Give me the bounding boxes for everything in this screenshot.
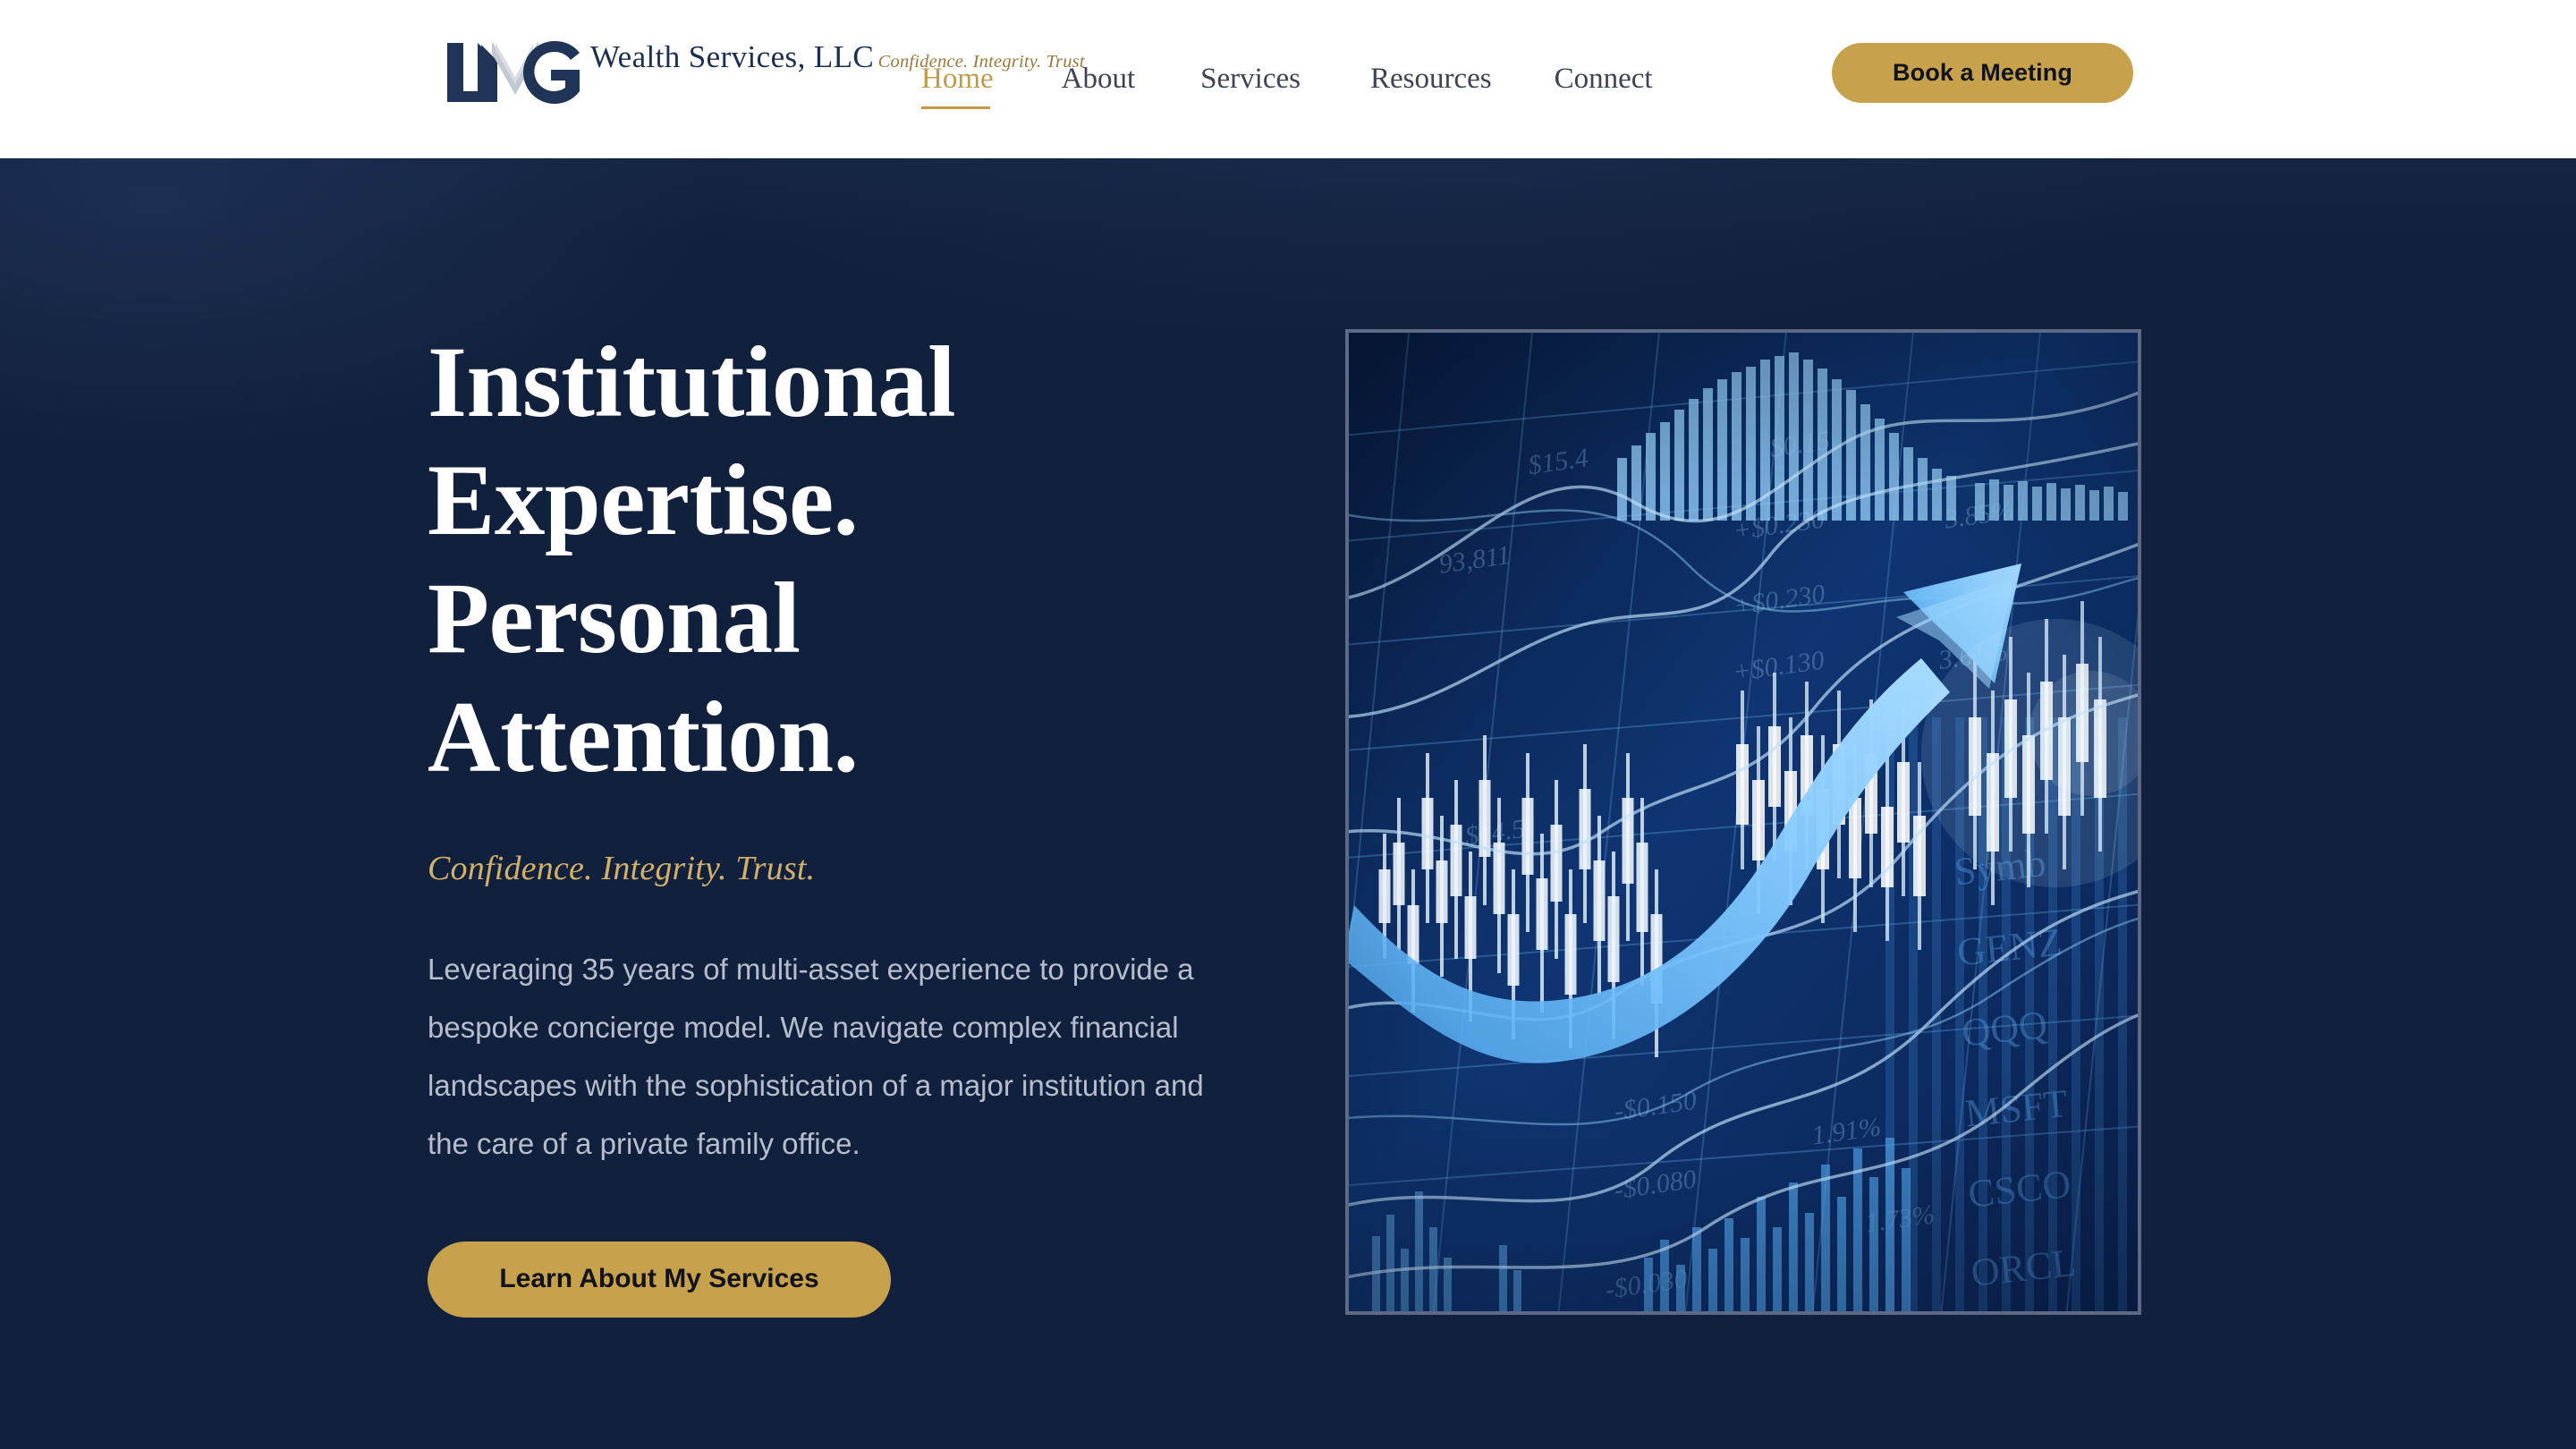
- hero-copy-block: InstitutionalExpertise.PersonalAttention…: [428, 324, 1286, 1318]
- nav-item-home[interactable]: Home: [921, 64, 994, 94]
- nav-item-connect[interactable]: Connect: [1555, 64, 1653, 94]
- book-a-meeting-button[interactable]: Book a Meeting: [1832, 43, 2133, 103]
- hero-section: InstitutionalExpertise.PersonalAttention…: [0, 158, 2576, 1449]
- hero-title-line-1: Institutional: [428, 326, 955, 438]
- hero-title-line-2: Expertise.: [428, 445, 858, 556]
- hero-title-line-3: Personal: [428, 563, 801, 674]
- hero-title: InstitutionalExpertise.PersonalAttention…: [428, 324, 1286, 797]
- site-header: Wealth Services, LLC Confidence. Integri…: [0, 0, 2576, 158]
- hero-tagline: Confidence. Integrity. Trust.: [428, 849, 1286, 888]
- learn-about-my-services-button[interactable]: Learn About My Services: [428, 1241, 891, 1318]
- nav-item-about[interactable]: About: [1062, 64, 1136, 94]
- logo-wordmark: Wealth Services, LLC: [590, 39, 874, 74]
- hero-title-line-4: Attention.: [428, 682, 859, 793]
- main-navigation: Home About Services Resources Connect: [921, 0, 1653, 158]
- market-data-visualization: $15.4 $0.15 93,811 +$0.230 3.72% +$0.230…: [1349, 333, 2138, 1311]
- hero-market-image-frame: $15.4 $0.15 93,811 +$0.230 3.72% +$0.230…: [1345, 329, 2141, 1315]
- lmg-monogram-icon: [445, 39, 581, 106]
- nav-item-resources[interactable]: Resources: [1370, 64, 1492, 94]
- hero-body-text: Leveraging 35 years of multi-asset exper…: [428, 940, 1237, 1173]
- nav-item-services[interactable]: Services: [1200, 64, 1301, 94]
